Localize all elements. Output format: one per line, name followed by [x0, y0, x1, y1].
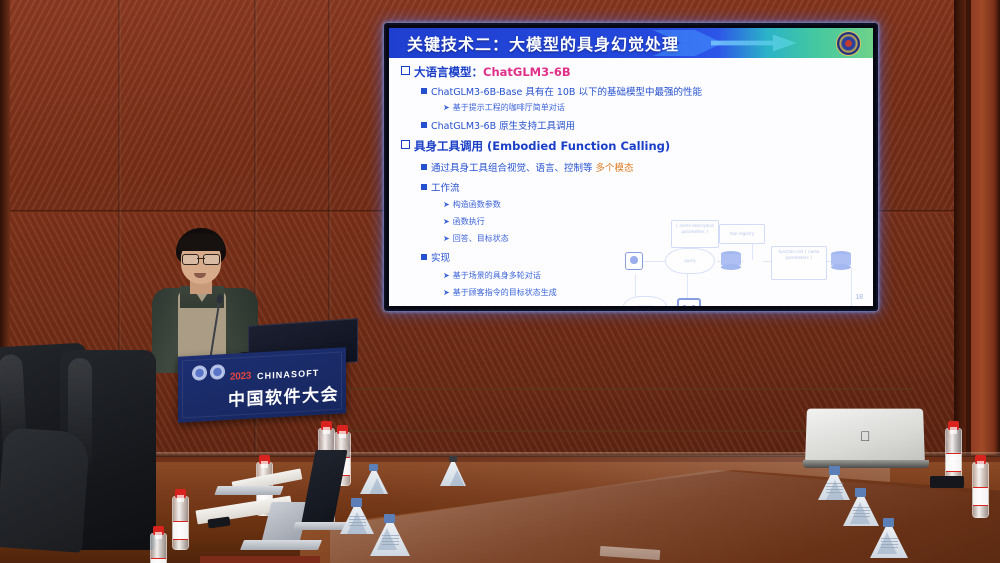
diagram-connector [687, 274, 688, 300]
robot-icon [677, 298, 701, 306]
water-bottle [172, 496, 189, 550]
filled-square-icon [421, 88, 427, 94]
slide-page-number: 18 [855, 294, 863, 301]
bullet-text: 通过具身工具组合视觉、语言、控制等 [431, 163, 596, 174]
tool-description-box: { name description parameters } [671, 220, 719, 248]
slide-title: 关键技术二：大模型的具身幻觉处理 [407, 31, 679, 55]
banner-year: 2023 [230, 371, 251, 383]
database-1 [721, 251, 741, 271]
name-card-tab [829, 466, 840, 475]
table-name-card [870, 520, 908, 558]
function-calling-flow-diagram: query { name description parameters } to… [621, 218, 865, 306]
bullet-text: ChatGLM3-6B 原生支持工具调用 [431, 121, 575, 132]
name-card-text [853, 507, 870, 518]
hollow-square-icon [401, 66, 410, 75]
bottle-neck [155, 532, 162, 539]
phone [930, 476, 964, 488]
bullet-line: ➤基于顾客指令的目标状态生成 [443, 287, 557, 298]
bullet-text: 工作流 [431, 183, 460, 194]
presentation-slide: 关键技术二：大模型的具身幻觉处理 大语言模型：ChatGLM3-6B ChatG… [389, 28, 873, 306]
bullet-text: 基于顾客指令的目标状态生成 [453, 288, 557, 297]
bottle-neck [261, 461, 268, 468]
table-name-card [370, 516, 410, 556]
name-card-text [382, 535, 399, 546]
bullet-accent-text: ChatGLM3-6B [483, 65, 571, 79]
wall-column [966, 0, 1000, 470]
name-card-body [440, 458, 466, 486]
bottle-neck [339, 431, 346, 438]
bottle-neck [323, 427, 330, 434]
bottle-neck [177, 495, 184, 502]
answer-cloud: answer [623, 296, 667, 306]
query-cloud: query [665, 248, 715, 274]
bullet-line: ➤基于提示工程的咖啡厅简单对话 [443, 102, 565, 113]
arrow-bullet-icon: ➤ [443, 234, 450, 243]
apple-logo-icon:  [860, 429, 873, 444]
bullet-text: 基于提示工程的咖啡厅简单对话 [453, 103, 565, 112]
arrow-bullet-icon: ➤ [443, 103, 450, 112]
paper-sheet [200, 556, 320, 563]
lectern-banner: 2023 CHINASOFT 中国软件大会 [178, 347, 346, 422]
arrow-bullet-icon: ➤ [443, 217, 450, 226]
bullet-line: ➤构造函数参数 [443, 199, 501, 210]
diagram-connector [851, 268, 852, 306]
filled-square-icon [421, 184, 427, 190]
bullet-text: 构造函数参数 [453, 200, 501, 209]
bullet-line: ➤基于场景的具身多轮对话 [443, 270, 541, 281]
wall-column-shadow [954, 0, 966, 470]
header-arrow-decor [711, 33, 797, 53]
function-call-box: function call { name parameters } [771, 246, 827, 280]
name-card-tab [883, 518, 894, 527]
bullet-line: 实现 [421, 250, 450, 264]
name-card-tab [449, 456, 457, 462]
bullet-line: 通过具身工具组合视觉、语言、控制等 多个模态 [421, 160, 634, 174]
bullet-text: 具身工具调用 (Embodied Function Calling) [414, 139, 670, 153]
user-icon [625, 252, 643, 270]
institution-seal-logo [836, 31, 861, 56]
bullet-text: 基于场景的具身多轮对话 [453, 271, 541, 280]
bottle-label [173, 521, 188, 540]
tan-panel-seam [326, 388, 914, 390]
conference-room-photo: 关键技术二：大模型的具身幻觉处理 大语言模型：ChatGLM3-6B ChatG… [0, 0, 1000, 563]
bottle-label [946, 453, 961, 472]
arrow-bullet-icon: ➤ [443, 271, 450, 280]
bullet-text: 函数执行 [453, 217, 485, 226]
laptop [216, 468, 276, 498]
bullet-line: ➤回答、目标状态 [443, 233, 509, 244]
name-card-text [826, 483, 843, 494]
arrow-bullet-icon: ➤ [443, 200, 450, 209]
table-name-card [360, 466, 388, 494]
name-card-text [881, 538, 898, 549]
name-card-tab [384, 514, 395, 523]
name-card-tab [369, 464, 378, 471]
macbook-lid:  [805, 409, 925, 464]
bottle-neck [950, 427, 957, 434]
hair-fringe [178, 234, 224, 251]
arrow-bullet-icon: ➤ [443, 288, 450, 297]
slide-body: 大语言模型：ChatGLM3-6B ChatGLM3-6B-Base 具有在 1… [389, 58, 873, 306]
tool-registry-box: tool registry [719, 224, 765, 244]
bullet-accent-text: 多个模态 [596, 163, 634, 174]
table-name-card [440, 458, 466, 486]
laptop-base [214, 486, 283, 495]
bottle-label [151, 558, 166, 563]
eyeglasses-icon [182, 254, 220, 263]
water-bottle [150, 533, 167, 563]
filled-square-icon [421, 254, 427, 260]
filled-square-icon [421, 164, 427, 170]
bullet-text: 实现 [431, 253, 450, 264]
filled-square-icon [421, 122, 427, 128]
name-card-tab [351, 498, 362, 507]
bullet-text: 大语言模型： [414, 65, 483, 79]
laptop-base [240, 540, 322, 550]
name-card-tab [855, 488, 866, 497]
bullet-line: 工作流 [421, 180, 460, 194]
bullet-text: ChatGLM3-6B-Base 具有在 10B 以下的基础模型中最强的性能 [431, 87, 702, 98]
draped-coat [0, 427, 90, 553]
bullet-line: ChatGLM3-6B 原生支持工具调用 [421, 118, 575, 132]
bottle-neck [977, 461, 984, 468]
bullet-text: 回答、目标状态 [453, 234, 509, 243]
bullet-line: ChatGLM3-6B-Base 具有在 10B 以下的基础模型中最强的性能 [421, 84, 702, 98]
bottle-label [973, 487, 988, 506]
hollow-square-icon [401, 140, 410, 149]
bullet-line: 具身工具调用 (Embodied Function Calling) [401, 138, 670, 154]
diagram-connector [635, 274, 636, 296]
water-bottle [972, 462, 989, 518]
bullet-line: ➤函数执行 [443, 216, 485, 227]
database-2 [831, 251, 851, 271]
macbook-laptop:  [806, 408, 924, 470]
name-card-text [349, 516, 366, 527]
macbook-base [803, 460, 929, 468]
table-name-card [340, 500, 374, 534]
bullet-line: 大语言模型：ChatGLM3-6B [401, 64, 571, 80]
slide-header-bar: 关键技术二：大模型的具身幻觉处理 [389, 28, 873, 58]
